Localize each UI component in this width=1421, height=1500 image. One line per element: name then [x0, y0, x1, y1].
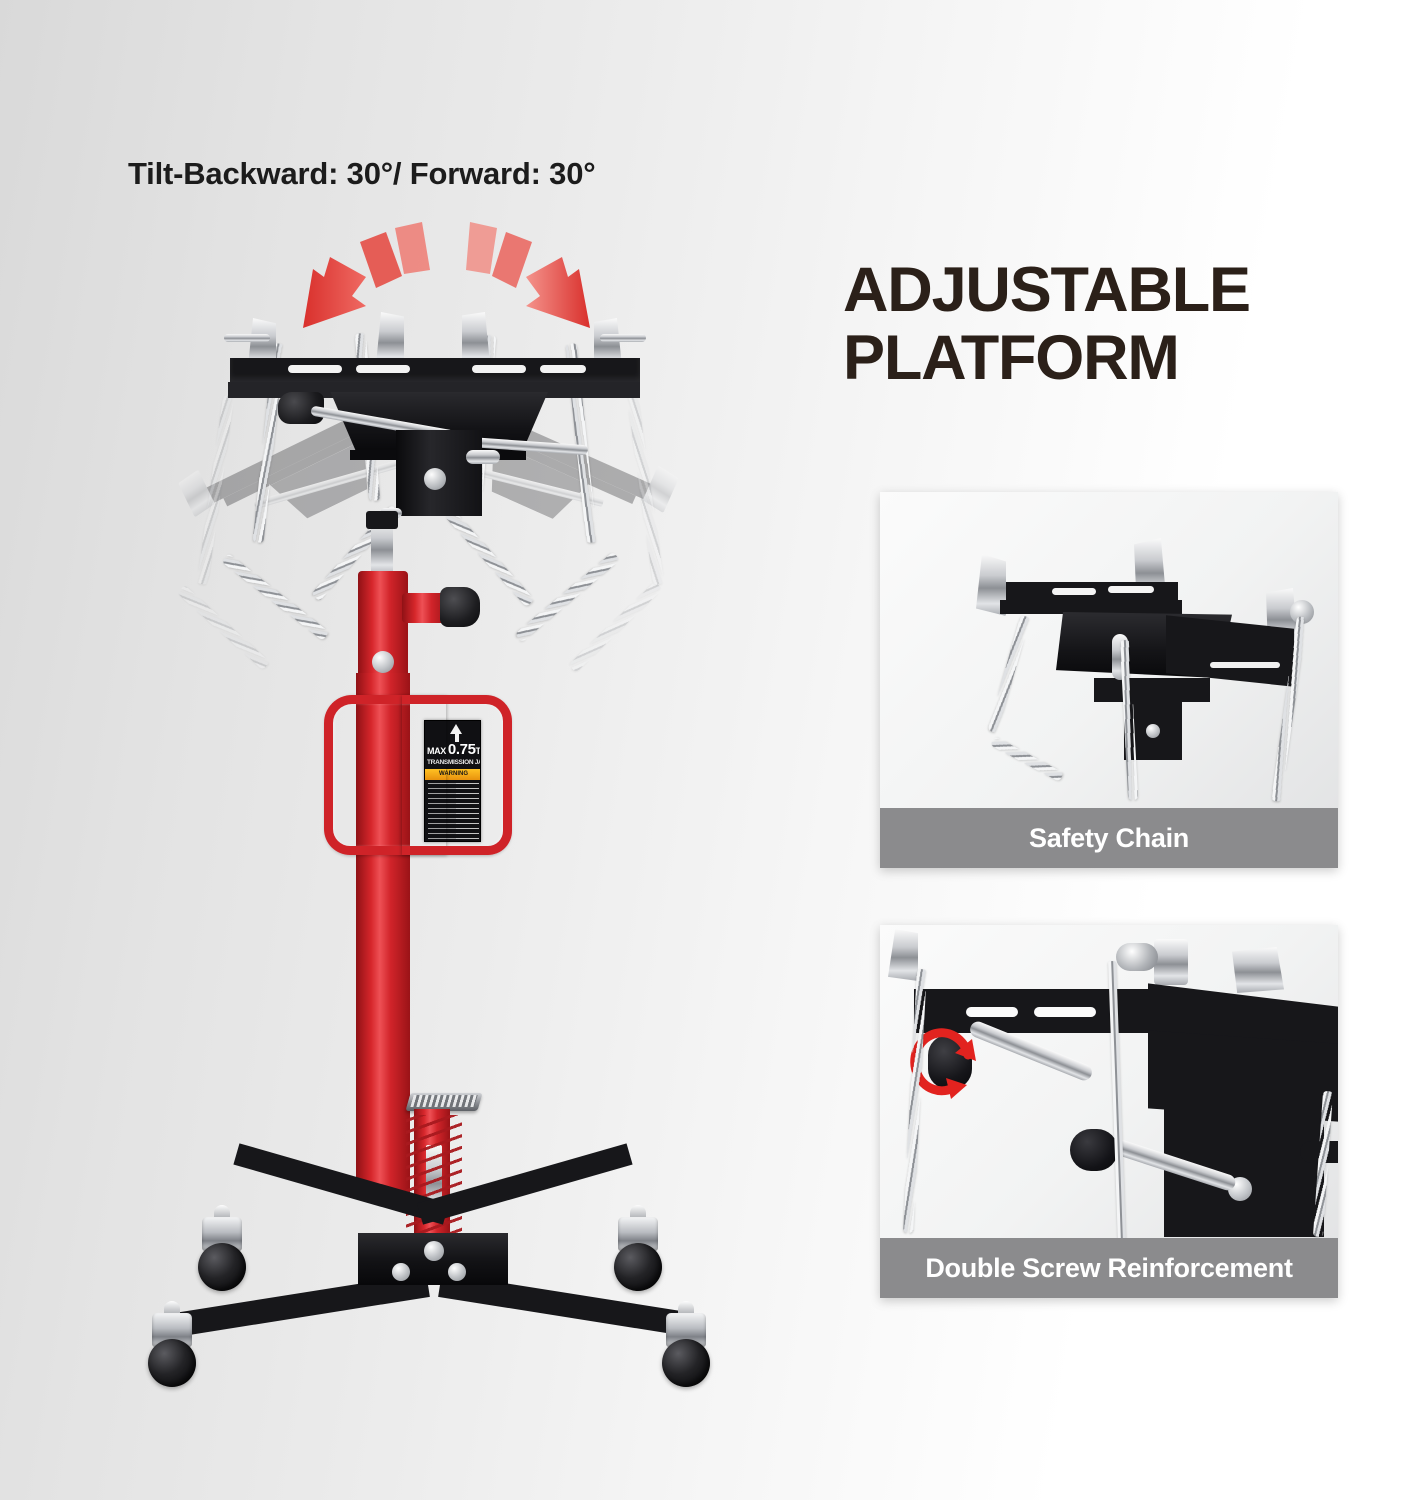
- lift-handle-right[interactable]: [402, 695, 512, 855]
- column-bolt: [424, 468, 446, 490]
- rail-slot-4: [540, 365, 586, 373]
- hub-bolt-top: [424, 1241, 444, 1261]
- bracket-pin-right: [600, 334, 646, 342]
- rail-slot-1: [288, 365, 342, 373]
- headline-line-1: ADJUSTABLE: [843, 256, 1403, 324]
- headline-line-2: PLATFORM: [843, 324, 1403, 392]
- hub-bolt-right: [448, 1263, 466, 1281]
- double-screw-caption: Double Screw Reinforcement: [880, 1238, 1338, 1298]
- hub-bolt-left: [392, 1263, 410, 1281]
- cylinder-bolt: [372, 651, 394, 673]
- caster-wheel-front-left: [146, 1313, 198, 1387]
- caster-wheel-back-right: [612, 1217, 664, 1291]
- platform-assembly: [200, 310, 670, 530]
- column-side-pin: [466, 450, 500, 464]
- ram-collar: [366, 511, 398, 529]
- release-knob[interactable]: [440, 587, 480, 627]
- bracket-pin-left: [224, 334, 270, 342]
- double-screw-photo: [880, 925, 1338, 1238]
- pedal-tread: [410, 1095, 477, 1107]
- tilt-callout-text: Tilt-Backward: 30°/ Forward: 30°: [128, 156, 595, 192]
- safety-chain-caption: Safety Chain: [880, 808, 1338, 868]
- caster-wheel-back-left: [196, 1217, 248, 1291]
- safety-chain-photo: [880, 492, 1338, 808]
- rail-slot-2: [356, 365, 410, 373]
- rail-slot-3: [472, 365, 526, 373]
- page-title: ADJUSTABLE PLATFORM: [843, 256, 1403, 392]
- feature-card-safety-chain[interactable]: Safety Chain: [880, 492, 1338, 868]
- caster-wheel-front-right: [660, 1313, 712, 1387]
- base-assembly: [140, 1175, 740, 1435]
- product-illustration: MAX 0.75T TRANSMISSION JACK WARNING: [140, 215, 780, 1425]
- feature-card-double-screw[interactable]: Double Screw Reinforcement: [880, 925, 1338, 1298]
